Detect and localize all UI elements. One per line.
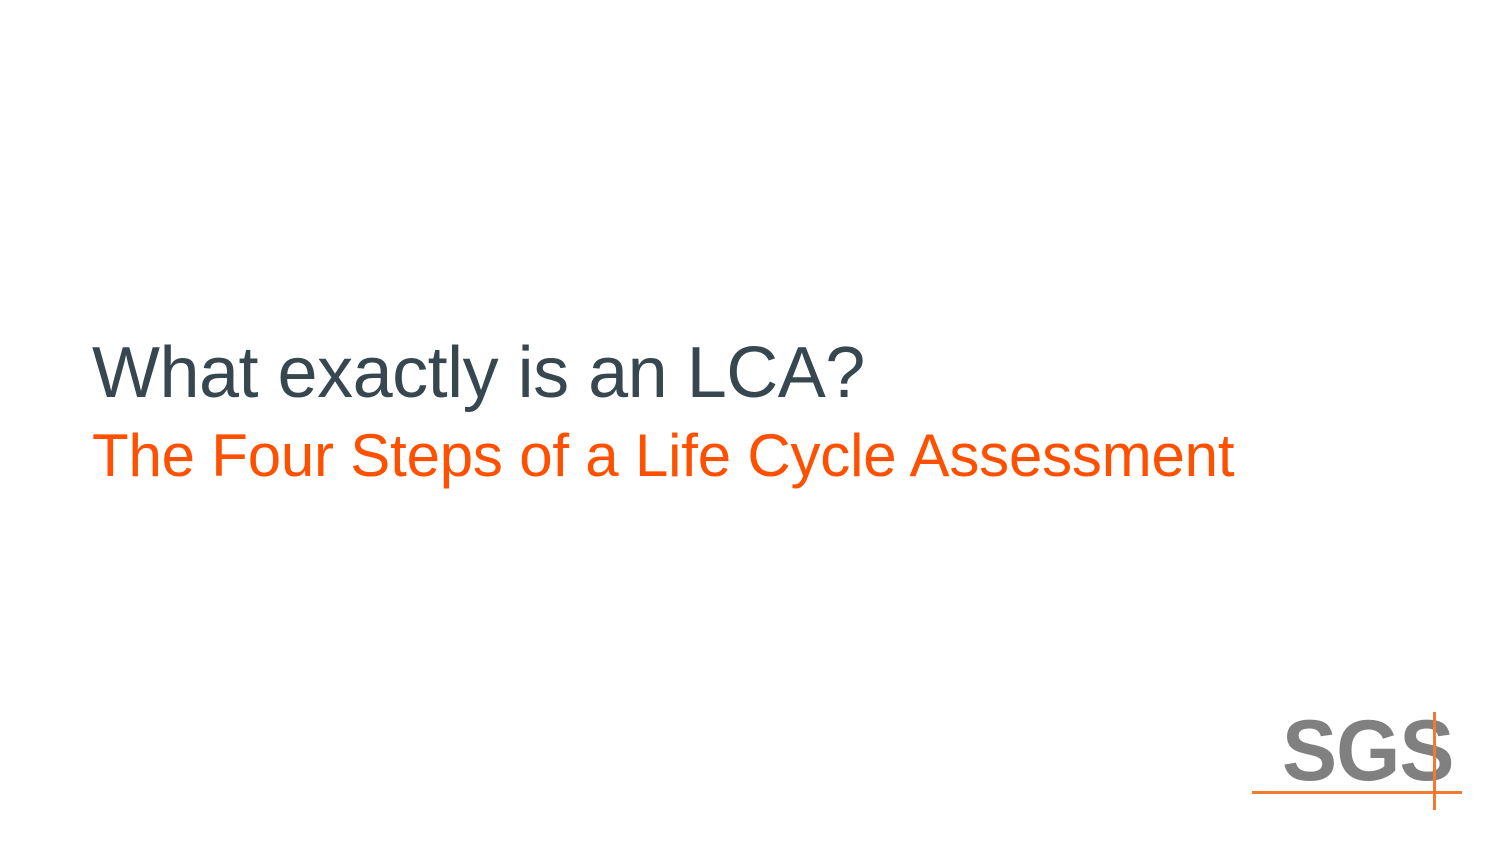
page-subtitle: The Four Steps of a Life Cycle Assessmen… <box>92 420 1392 492</box>
logo-horizontal-rule-icon <box>1252 791 1462 794</box>
page-title: What exactly is an LCA? <box>92 330 1392 416</box>
logo-vertical-rule-icon <box>1433 712 1436 810</box>
sgs-wordmark: SGS <box>1282 708 1453 794</box>
slide-text-block: What exactly is an LCA? The Four Steps o… <box>92 330 1392 492</box>
sgs-logo: SGS <box>1250 706 1466 816</box>
presentation-slide: What exactly is an LCA? The Four Steps o… <box>0 0 1504 846</box>
